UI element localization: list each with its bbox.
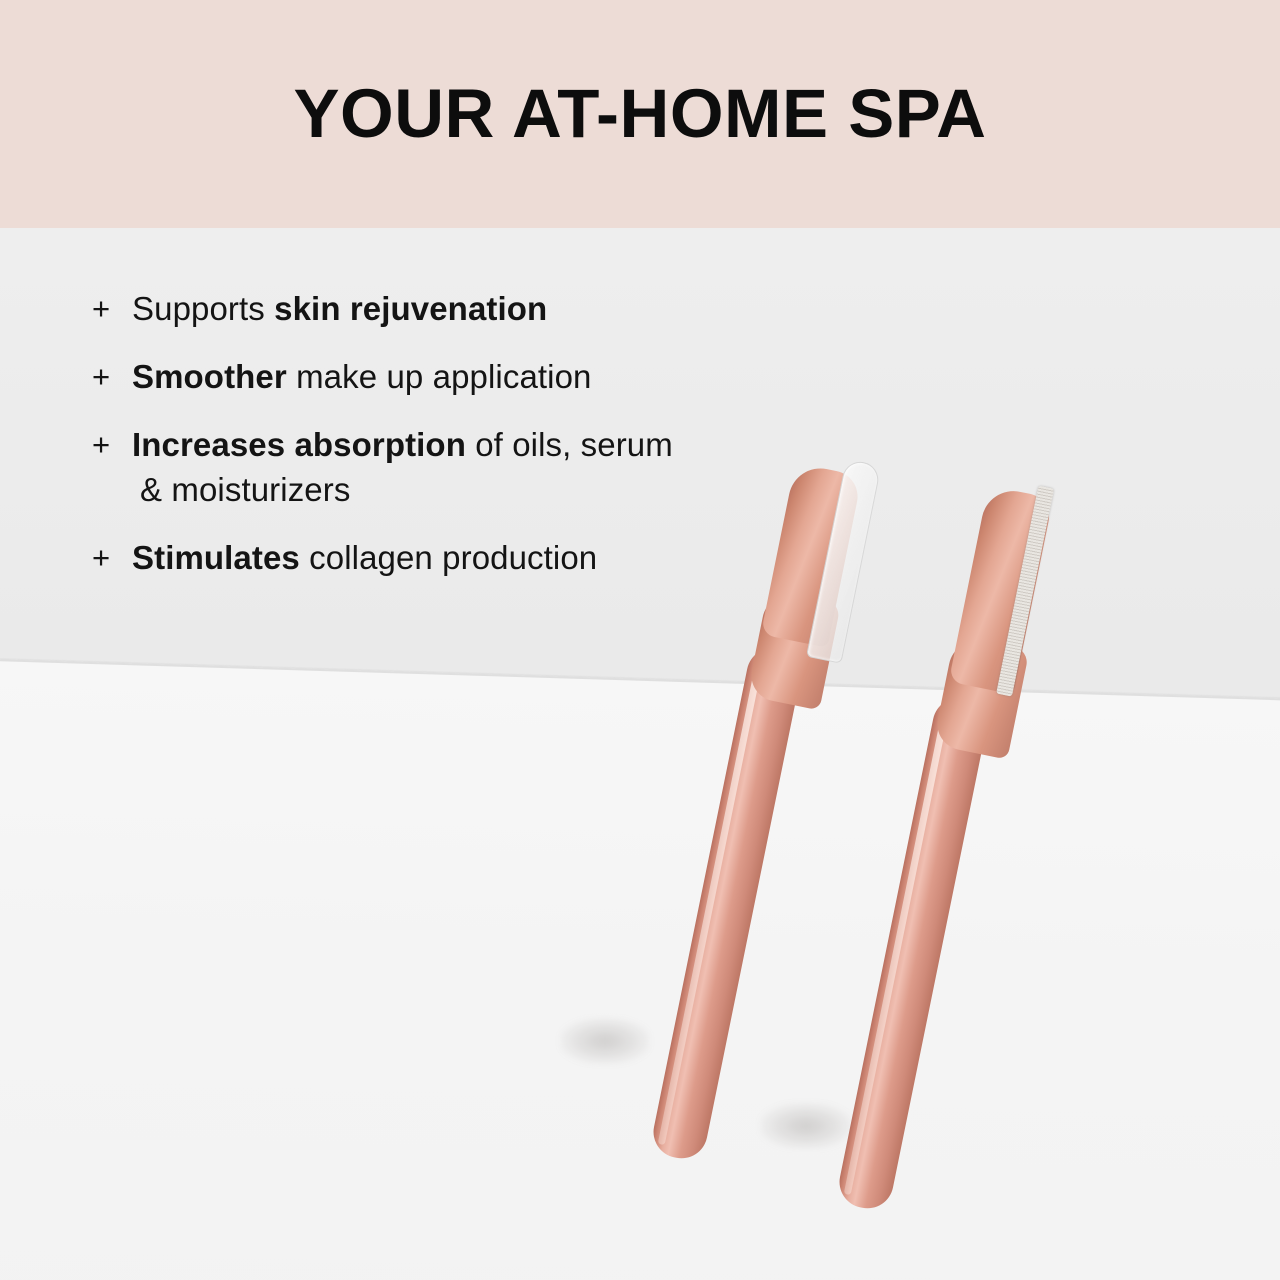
razor-right <box>790 378 1090 1138</box>
feature-item: + Increases absorption of oils, serum & … <box>92 422 732 512</box>
header-banner: YOUR AT-HOME SPA <box>0 0 1280 228</box>
plus-icon: + <box>92 422 110 467</box>
feature-trail-text: make up application <box>287 358 592 395</box>
feature-wrap-text: & moisturizers <box>132 467 732 512</box>
plus-icon: + <box>92 286 110 331</box>
feature-item: + Stimulates collagen production <box>92 535 732 580</box>
feature-lead-text: Supports <box>132 290 274 327</box>
feature-item: + Smoother make up application <box>92 354 732 399</box>
feature-bold-text: skin rejuvenation <box>274 290 547 327</box>
product-feature-image: YOUR AT-HOME SPA <box>0 0 1280 1280</box>
feature-trail-text: collagen production <box>300 539 597 576</box>
feature-bold-text: Stimulates <box>132 539 300 576</box>
feature-bold-text: Increases absorption <box>132 426 466 463</box>
razor-right-handle <box>835 693 992 1213</box>
feature-item: + Supports skin rejuvenation <box>92 286 732 331</box>
feature-list: + Supports skin rejuvenation + Smoother … <box>92 286 732 603</box>
plus-icon: + <box>92 354 110 399</box>
feature-trail-text: of oils, serum <box>466 426 673 463</box>
plus-icon: + <box>92 535 110 580</box>
page-title: YOUR AT-HOME SPA <box>0 0 1280 228</box>
feature-bold-text: Smoother <box>132 358 287 395</box>
